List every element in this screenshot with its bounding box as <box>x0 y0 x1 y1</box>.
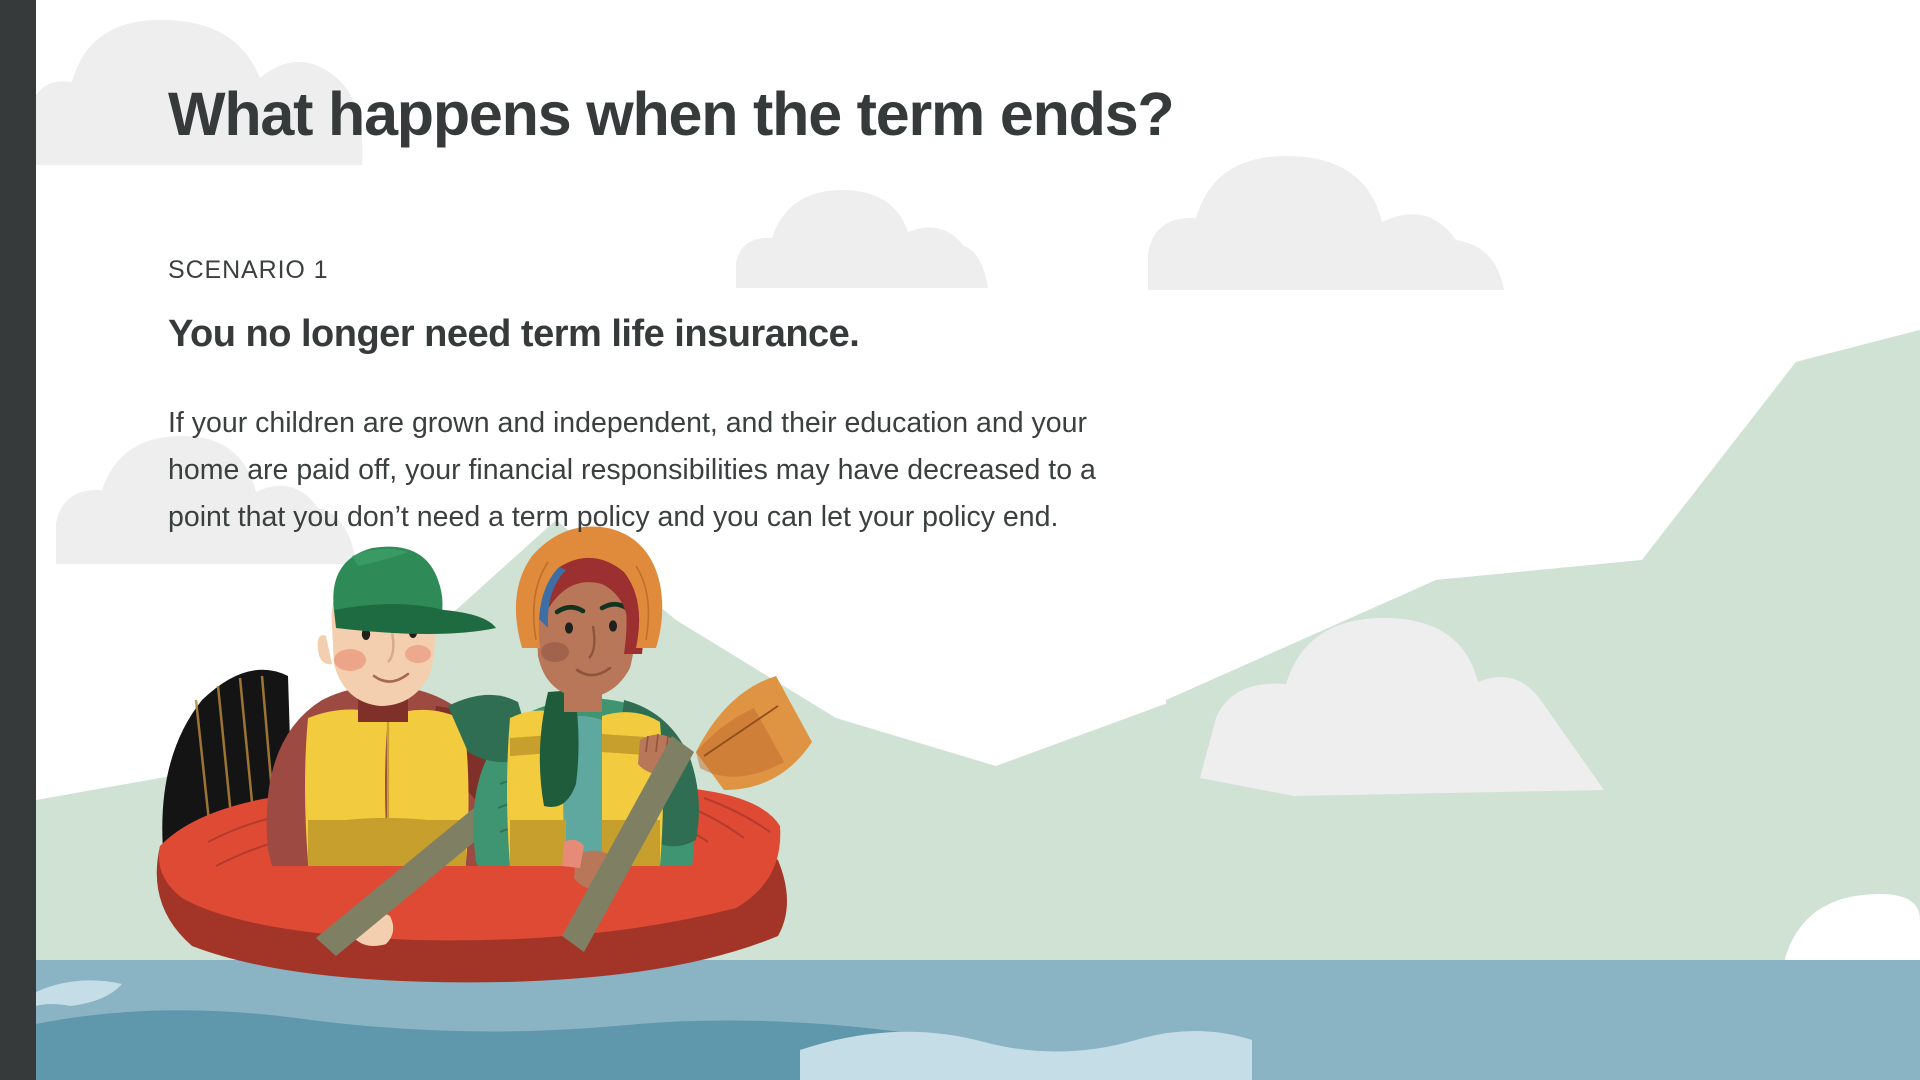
page-title: What happens when the term ends? <box>168 84 1568 145</box>
slide-canvas: What happens when the term ends? SCENARI… <box>0 0 1920 1080</box>
scenario-headline: You no longer need term life insurance. <box>168 313 1368 356</box>
body-line-2: home are paid off, your financial respon… <box>168 447 1468 494</box>
body-line-1: If your children are grown and independe… <box>168 400 1468 447</box>
scenario-eyebrow-label: SCENARIO 1 <box>168 256 328 285</box>
left-sidebar-rail <box>0 0 36 1080</box>
scenario-body-copy: If your children are grown and independe… <box>168 400 1468 541</box>
body-line-3: point that you don’t need a term policy … <box>168 494 1468 541</box>
